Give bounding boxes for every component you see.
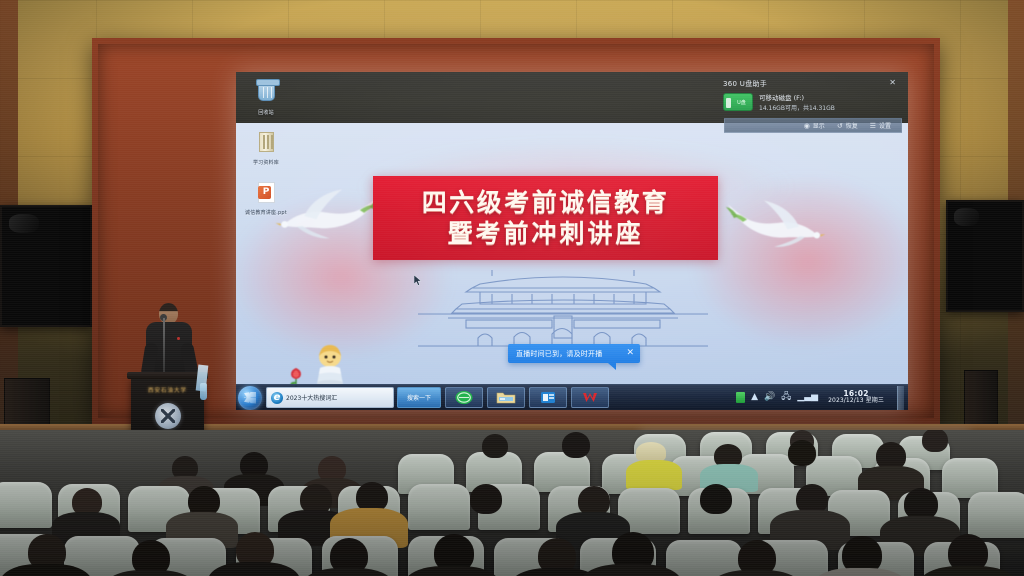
usb-drive-icon: U盘 bbox=[723, 93, 753, 111]
close-icon[interactable]: ✕ bbox=[626, 349, 634, 358]
taskbar-button-explorer[interactable] bbox=[487, 387, 525, 408]
udisk-tool-label: 显示 bbox=[813, 121, 825, 130]
udisk-helper-popup[interactable]: 360 U盘助手 ✕ U盘 可移动磁盘 (F:) 14.16GB可用，共14.3… bbox=[717, 79, 902, 112]
audience-head-with-cap bbox=[636, 442, 666, 462]
projected-desktop[interactable]: 回收站 学习资料库 诚信教育讲座.ppt 360 U盘助手 ✕ U盘 bbox=[236, 72, 908, 410]
tray-security-icon[interactable] bbox=[736, 392, 745, 403]
restore-icon: ↺ bbox=[837, 122, 843, 130]
taskbar-button-blue-app[interactable] bbox=[529, 387, 567, 408]
udisk-tool-display[interactable]: ◉ 显示 bbox=[804, 121, 825, 130]
tiananmen-gate-icon bbox=[418, 268, 708, 350]
university-emblem-icon bbox=[155, 403, 181, 429]
blue-app-icon bbox=[538, 390, 558, 405]
seat bbox=[408, 484, 470, 530]
microphone-stand bbox=[163, 318, 165, 380]
left-wall-display bbox=[0, 205, 92, 327]
udisk-capacity: 14.16GB可用，共14.31GB bbox=[759, 103, 835, 112]
udisk-info: 可移动磁盘 (F:) 14.16GB可用，共14.31GB bbox=[759, 92, 835, 112]
desktop-icon-recycle-bin[interactable]: 回收站 bbox=[242, 80, 290, 116]
recycle-bin-icon bbox=[253, 82, 279, 108]
windows-taskbar[interactable]: 2023十大热搜词汇 搜索一下 bbox=[236, 384, 908, 410]
lectern-institution-label: 西安石油大学 bbox=[131, 386, 204, 394]
udisk-tool-settings[interactable]: ☰ 设置 bbox=[870, 121, 891, 130]
right-wall-display bbox=[946, 200, 1024, 312]
clock-date: 2023/12/13 星期三 bbox=[828, 398, 884, 405]
tray-volume-icon[interactable]: 🔊 bbox=[764, 393, 775, 402]
start-button[interactable] bbox=[238, 386, 262, 410]
slide-title-line-1: 四六级考前诚信教育 bbox=[422, 188, 670, 218]
taskbar-button-red-app[interactable] bbox=[571, 387, 609, 408]
folder-icon bbox=[253, 132, 279, 158]
desktop-icon-label: 回收站 bbox=[242, 110, 290, 116]
cartoon-mascot-icon bbox=[312, 344, 348, 386]
udisk-popup-header: 360 U盘助手 ✕ bbox=[717, 79, 902, 92]
internet-explorer-icon bbox=[271, 392, 283, 404]
presenter bbox=[146, 303, 192, 383]
tray-signal-icon[interactable]: ▁▃▅ bbox=[797, 393, 818, 402]
audience-head bbox=[788, 440, 816, 466]
udisk-drive-name: 可移动磁盘 (F:) bbox=[759, 92, 835, 102]
folder-explorer-icon bbox=[496, 390, 516, 405]
taskbar-button-wechat[interactable] bbox=[445, 387, 483, 408]
slide-title-line-2: 暨考前冲刺讲座 bbox=[447, 219, 643, 249]
livestream-notification[interactable]: 直播时间已到，请及时开播 ✕ bbox=[508, 344, 640, 363]
audience-head bbox=[562, 432, 590, 458]
udisk-toolbar[interactable]: ◉ 显示 ↺ 恢复 ☰ 设置 bbox=[724, 118, 902, 133]
taskbar-window-label: 2023十大热搜词汇 bbox=[286, 393, 337, 402]
audience-head bbox=[470, 484, 502, 514]
usb-drive-badge: U盘 bbox=[733, 98, 750, 108]
close-icon[interactable]: ✕ bbox=[887, 79, 898, 87]
notification-tail bbox=[608, 363, 616, 370]
taskbar-clock[interactable]: 16:02 2023/12/13 星期三 bbox=[824, 390, 888, 405]
lectern-top bbox=[127, 372, 208, 379]
wechat-icon bbox=[454, 390, 474, 405]
right-speaker-cabinet bbox=[964, 370, 998, 432]
peace-dove-right-icon bbox=[713, 188, 830, 257]
udisk-popup-title: 360 U盘助手 bbox=[723, 79, 767, 89]
udisk-popup-body: U盘 可移动磁盘 (F:) 14.16GB可用，共14.31GB bbox=[717, 92, 902, 112]
settings-icon: ☰ bbox=[870, 122, 876, 130]
audience-seating bbox=[0, 430, 1024, 576]
lecture-hall-scene: 回收站 学习资料库 诚信教育讲座.ppt 360 U盘助手 ✕ U盘 bbox=[0, 0, 1024, 576]
water-bottle bbox=[200, 383, 207, 400]
taskbar-window-ie[interactable]: 2023十大热搜词汇 bbox=[266, 387, 394, 408]
audience-head bbox=[922, 430, 948, 452]
system-tray[interactable]: ▲ 🔊 🖧 ▁▃▅ 16:02 2023/12/13 星期三 bbox=[736, 385, 908, 410]
seat bbox=[0, 482, 52, 528]
red-app-icon bbox=[580, 390, 600, 405]
taskbar-active-tab[interactable]: 搜索一下 bbox=[397, 387, 441, 408]
audience-shoulders-yellow bbox=[626, 460, 682, 490]
show-desktop-button[interactable] bbox=[897, 386, 904, 410]
presenter-badge bbox=[177, 337, 180, 340]
display-glare bbox=[954, 208, 979, 225]
udisk-tool-restore[interactable]: ↺ 恢复 bbox=[837, 121, 858, 130]
audience-head bbox=[700, 484, 732, 514]
udisk-tool-label: 设置 bbox=[879, 121, 891, 130]
seat bbox=[968, 492, 1024, 538]
tray-network-icon[interactable]: 🖧 bbox=[781, 393, 791, 402]
notification-text: 直播时间已到，请及时开播 bbox=[516, 349, 602, 359]
desktop-icon-label: 学习资料库 bbox=[242, 160, 290, 166]
tray-overflow-icon[interactable]: ▲ bbox=[751, 393, 758, 402]
display-glare bbox=[9, 214, 39, 233]
mouse-cursor bbox=[414, 271, 422, 282]
desktop-icon-folder[interactable]: 学习资料库 bbox=[242, 130, 290, 166]
audience-head bbox=[482, 434, 508, 458]
slide-title-banner: 四六级考前诚信教育 暨考前冲刺讲座 bbox=[373, 176, 718, 260]
eye-icon: ◉ bbox=[804, 122, 810, 130]
udisk-tool-label: 恢复 bbox=[846, 121, 858, 130]
